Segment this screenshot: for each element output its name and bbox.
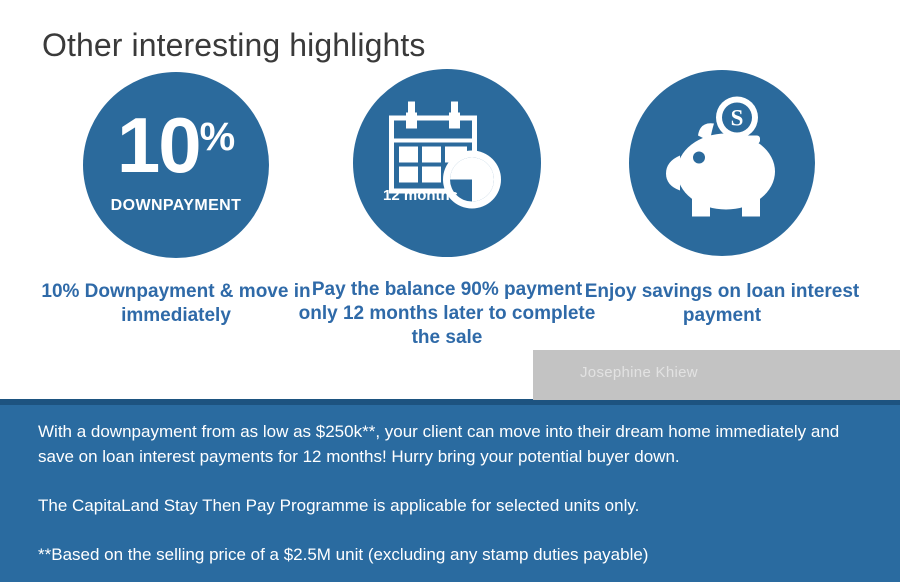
footer-paragraph: With a downpayment from as low as $250k*…	[38, 419, 844, 469]
highlight-caption: 10% Downpayment & move in immediately	[26, 280, 326, 328]
calendar-clock-circle: 12 months	[353, 69, 541, 257]
svg-text:S: S	[731, 106, 744, 131]
highlight-item-downpayment: 10% DOWNPAYMENT 10% Downpayment & move i…	[26, 64, 326, 328]
calendar-clock-icon	[372, 86, 522, 241]
highlight-item-savings: S	[572, 64, 872, 328]
highlights-row: 10% DOWNPAYMENT 10% Downpayment & move i…	[0, 64, 900, 354]
name-overlay: Josephine Khiew	[533, 350, 900, 400]
highlight-caption: Enjoy savings on loan interest payment	[572, 280, 872, 328]
highlight-caption: Pay the balance 90% payment only 12 mont…	[297, 278, 597, 350]
badge-sublabel: DOWNPAYMENT	[83, 197, 269, 215]
footer-paragraph: **Based on the selling price of a $2.5M …	[38, 542, 844, 567]
badge-number: 10	[117, 101, 200, 189]
piggy-bank-circle: S	[629, 70, 815, 256]
piggy-bank-coin-icon: S	[652, 96, 792, 231]
overlay-name-label: Josephine Khiew	[580, 364, 698, 381]
calendar-icon-label: 12 months	[383, 187, 458, 204]
footer-panel: With a downpayment from as low as $250k*…	[0, 399, 900, 582]
footer-paragraph: The CapitaLand Stay Then Pay Programme i…	[38, 493, 844, 518]
page-title: Other interesting highlights	[42, 23, 425, 67]
slide-canvas: Other interesting highlights 10% DOWNPAY…	[0, 0, 900, 582]
footer-text-block: With a downpayment from as low as $250k*…	[38, 419, 844, 567]
highlight-item-twelve-months: 12 months Pay the balance 90% payment on…	[297, 64, 597, 350]
badge-percent-text: 10%	[83, 98, 269, 184]
badge-percent-symbol: %	[200, 115, 236, 159]
ten-percent-downpayment-badge-icon: 10% DOWNPAYMENT	[83, 72, 269, 258]
